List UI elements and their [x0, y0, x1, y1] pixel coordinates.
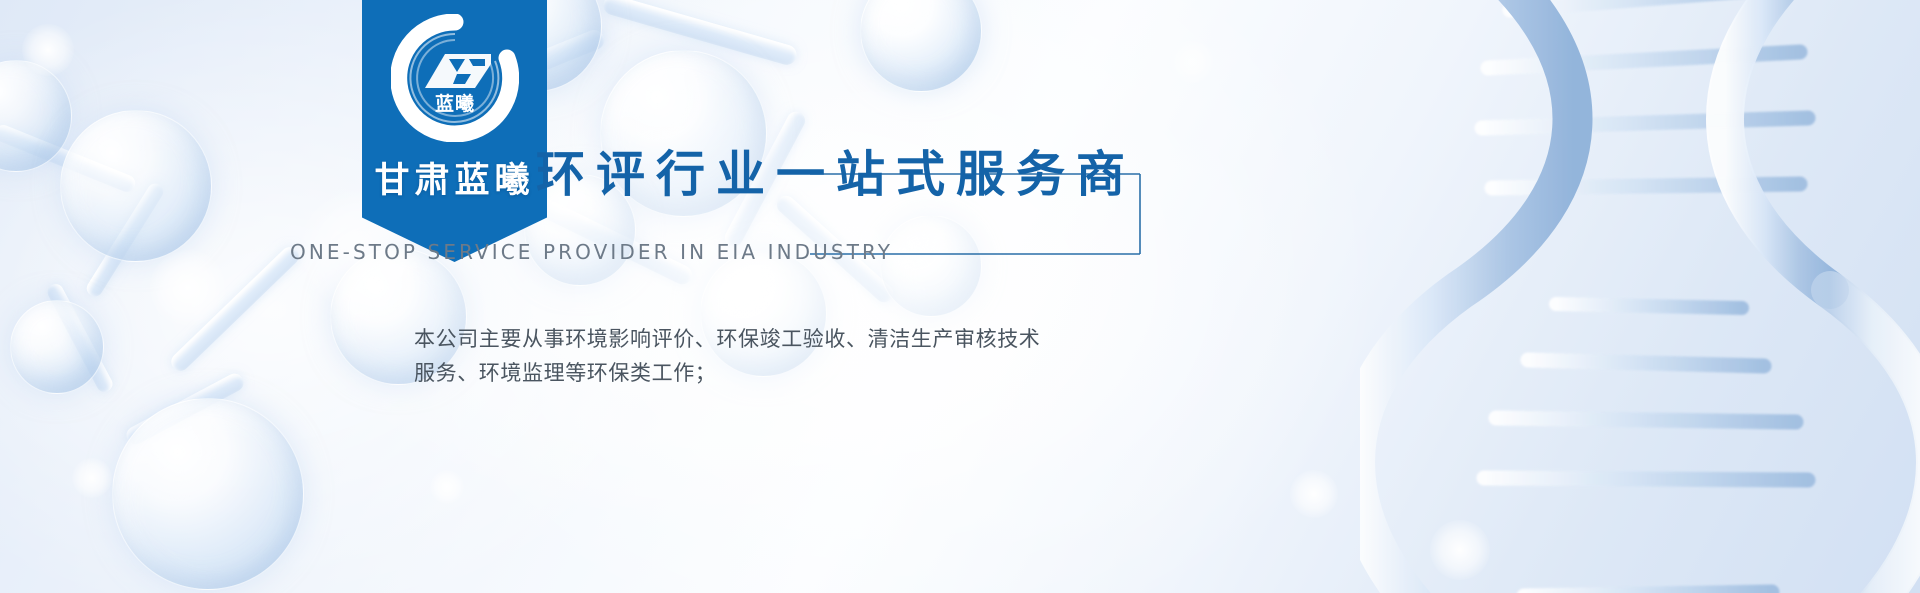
molecule-atom [880, 215, 982, 317]
bokeh-dot [430, 470, 464, 504]
bokeh-dot [72, 458, 112, 498]
bokeh-dot [1170, 40, 1214, 84]
molecule-bond [168, 243, 303, 374]
logo-mark-text: 蓝曦 [434, 92, 474, 115]
description-line-2: 服务、环境监理等环保类工作； [414, 356, 1040, 390]
company-description: 本公司主要从事环境影响评价、环保竣工验收、清洁生产审核技术 服务、环境监理等环保… [414, 322, 1040, 390]
page-subtitle: ONE-STOP SERVICE PROVIDER IN EIA INDUSTR… [290, 240, 893, 264]
page-title: 环评行业一站式服务商 [536, 150, 1136, 199]
molecule-atom [10, 300, 104, 394]
molecule-atom [60, 110, 212, 262]
company-logo-ribbon[interactable]: 蓝曦 甘肃蓝曦 [362, 0, 547, 262]
dna-double-helix-graphic [1360, 0, 1920, 593]
lanxi-circular-logo-mark: 蓝曦 [391, 14, 519, 142]
bokeh-dot [1290, 470, 1338, 518]
company-short-name: 甘肃蓝曦 [362, 152, 547, 203]
description-line-1: 本公司主要从事环境影响评价、环保竣工验收、清洁生产审核技术 [414, 322, 1040, 356]
company-hero-banner: 蓝曦 甘肃蓝曦 环评行业一站式服务商 ONE-STOP SERVICE PROV… [0, 0, 1920, 593]
molecule-atom [112, 398, 304, 590]
molecule-atom [860, 0, 982, 92]
headline-block: 环评行业一站式服务商 [536, 150, 1136, 199]
